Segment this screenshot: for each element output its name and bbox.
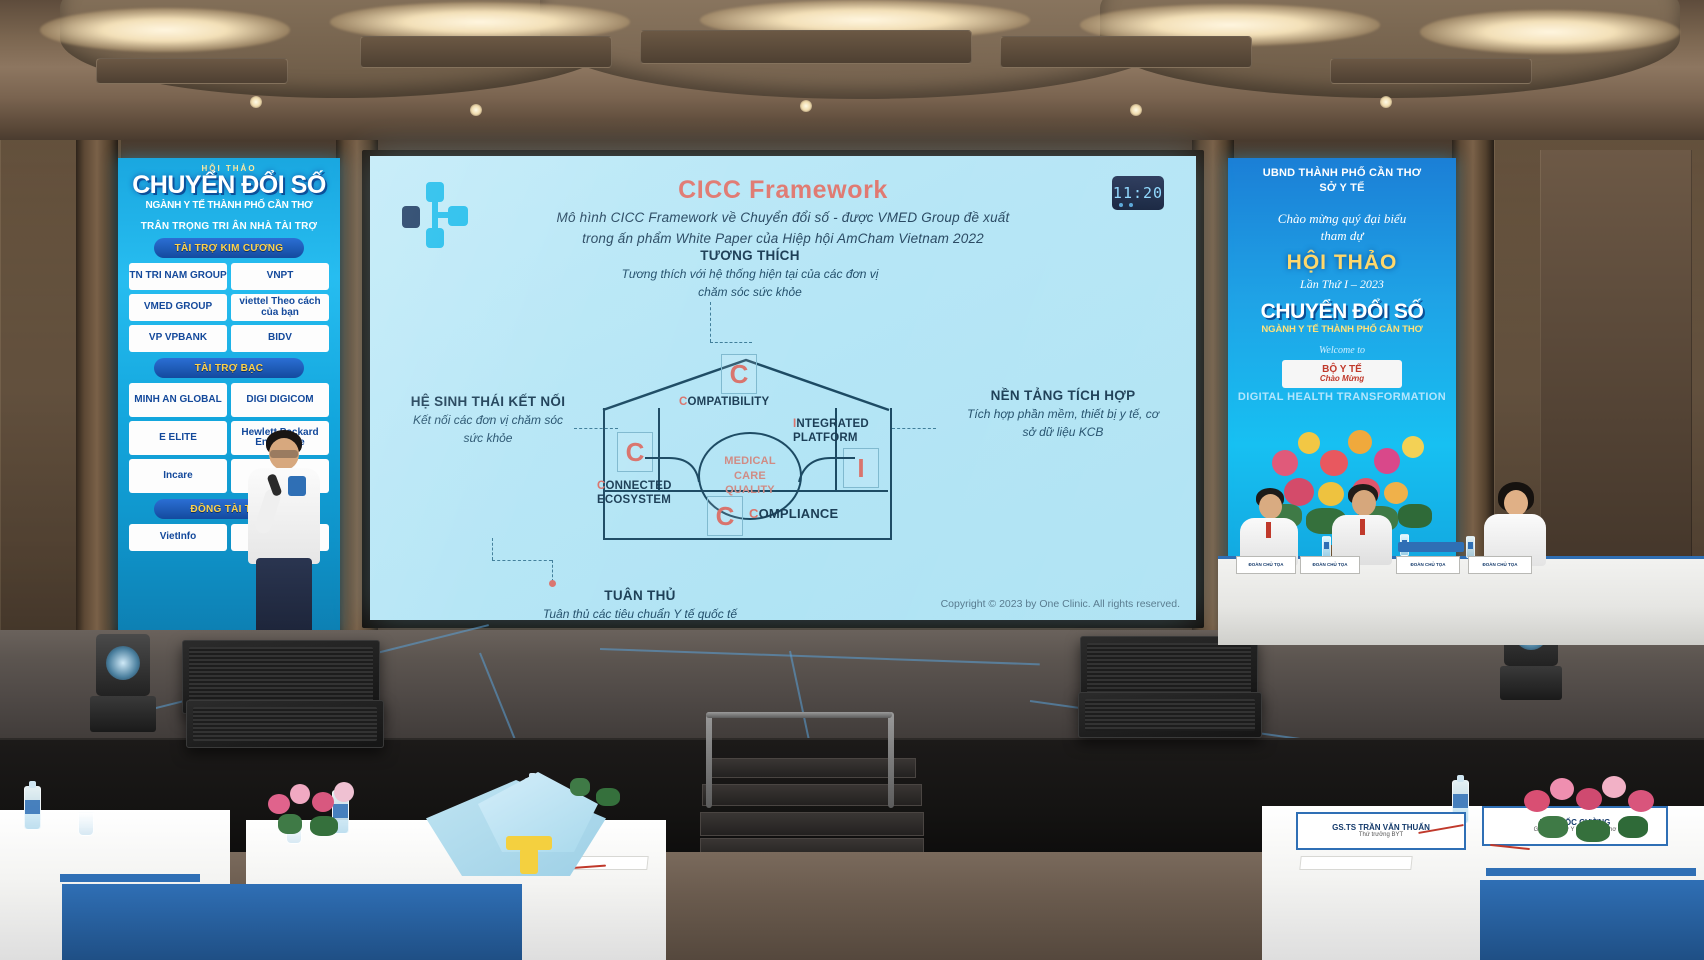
water-bottle-panel-1 — [1322, 536, 1331, 558]
front-table-left-band — [60, 874, 200, 882]
ceiling-downlight-3 — [800, 100, 812, 112]
banner-left-subtitle: NGÀNH Y TẾ THÀNH PHỐ CẦN THƠ — [126, 200, 332, 211]
cicc-house-diagram: C COMPATIBILITY C CONNECTED ECOSYSTEM I — [603, 356, 888, 538]
clock-indicator-leds — [1119, 203, 1133, 207]
leader-bottom-vertical-1 — [492, 538, 493, 560]
slide-subtitle: Mô hình CICC Framework về Chuyển đổi số … — [490, 208, 1076, 250]
letter-c-compliance: C — [716, 503, 735, 529]
sponsor-logo: VMED GROUP — [129, 294, 227, 321]
sponsor-logos-diamond: TN TRI NAM GROUP VNPT VMED GROUP viettel… — [126, 263, 332, 352]
tier-label-diamond: TÀI TRỢ KIM CƯƠNG — [154, 238, 304, 258]
leader-right — [892, 428, 936, 429]
sponsor-logo: Incare — [129, 459, 227, 493]
pillar-rest-compliance: OMPLIANCE — [759, 506, 839, 521]
conference-hall-photo: HỘI THẢO CHUYỂN ĐỔI SỐ NGÀNH Y TẾ THÀNH … — [0, 0, 1704, 960]
banner-left-title: CHUYỂN ĐỔI SỐ — [126, 173, 332, 198]
panel-nameplate-2: ĐOÀN CHỦ TỌA — [1300, 556, 1360, 574]
front-nameplate-1-name: GS.TS TRẦN VĂN THUẤN — [1332, 824, 1430, 832]
ceiling-cove-light-1 — [40, 8, 290, 52]
front-nameplate-1: GS.TS TRẦN VĂN THUẤN Thứ trưởng BYT — [1296, 812, 1466, 850]
panel-nameplate-3-name: ĐOÀN CHỦ TỌA — [1411, 563, 1446, 568]
callout-left-desc-line1: Kết nối các đơn vị chăm sóc — [388, 411, 588, 429]
core-connector-right — [785, 452, 861, 496]
banner-right-title: CHUYỂN ĐỔI SỐ — [1234, 300, 1450, 324]
banner-right-welcome-en: Welcome to — [1234, 345, 1450, 356]
panel-nameplate-3: ĐOÀN CHỦ TỌA — [1396, 556, 1460, 574]
speaker-presenter — [240, 430, 330, 645]
tier-label-silver: TÀI TRỢ BẠC — [154, 358, 304, 378]
moving-head-light-left — [84, 626, 162, 736]
ceiling-downlight-5 — [1380, 96, 1392, 108]
callout-left-desc-line2: sức khỏe — [388, 429, 588, 447]
wall-panel-right-inner — [1540, 150, 1692, 620]
callout-right-desc-line2: sở dữ liệu KCB — [938, 423, 1188, 441]
panel-member-1 — [1238, 488, 1300, 566]
speaker-glasses — [270, 450, 298, 458]
callout-left-ecosystem: HỆ SINH THÁI KẾT NỐI Kết nối các đơn vị … — [388, 394, 588, 447]
wood-column-1 — [76, 140, 118, 700]
water-bottle-front-1 — [24, 786, 41, 830]
pillar-rest-integrated: NTEGRATED — [796, 418, 869, 430]
banner-right-welcome-line1: Chào mừng quý đại biểu — [1234, 210, 1450, 228]
leader-top-vertical — [710, 302, 711, 342]
letter-c-connected: C — [626, 439, 645, 465]
ceiling-downlight-1 — [250, 96, 262, 108]
core-text: MEDICAL CARE QUALITY — [724, 454, 776, 499]
ceiling-panel-1 — [360, 36, 612, 68]
panel-nameplate-2-name: ĐOÀN CHỦ TỌA — [1313, 563, 1348, 568]
panel-nameplate-4-name: ĐOÀN CHỦ TỌA — [1483, 563, 1518, 568]
sponsor-logo: BIDV — [231, 325, 329, 352]
document-front-2 — [1299, 856, 1412, 870]
front-table-blue-band-left — [62, 884, 522, 960]
bouquet-center-left — [264, 778, 384, 850]
panel-member-2 — [1330, 484, 1394, 566]
front-table-blue-band-right — [1480, 880, 1704, 960]
callout-bottom-heading: TUÂN THỦ — [400, 588, 880, 603]
banner-left-thanks: TRÂN TRỌNG TRI ÂN NHÀ TÀI TRỢ — [126, 221, 332, 232]
pillar-label-integrated: INTEGRATED PLATFORM — [793, 418, 869, 446]
core-line3: QUALITY — [725, 484, 775, 496]
ceiling-downlight-4 — [1130, 104, 1142, 116]
banner-right-edition: Lần Thứ I – 2023 — [1234, 277, 1450, 292]
slide-subtitle-line2: trong ấn phẩm White Paper của Hiệp hội A… — [490, 229, 1076, 250]
callout-top-compatibility: TƯƠNG THÍCH Tương thích với hệ thống hiệ… — [570, 248, 930, 301]
banner-right-welcome-line2: tham dự — [1234, 227, 1450, 245]
ceiling-panel-5 — [1330, 58, 1532, 84]
banner-right-org-line2: SỞ Y TẾ — [1234, 181, 1450, 196]
ministry-of-health-logo: BỘ Y TẾ Chào Mừng — [1282, 360, 1402, 388]
stage-monitor-left-2 — [186, 700, 384, 748]
core-line2: CARE — [734, 470, 766, 482]
ceiling-panel-3 — [1000, 36, 1252, 68]
bouquet-wrapped-center — [420, 770, 650, 880]
pillar-label-integrated-line2: PLATFORM — [793, 432, 869, 446]
callout-right-heading: NỀN TẢNG TÍCH HỢP — [938, 388, 1188, 403]
banner-right-subtitle: NGÀNH Y TẾ THÀNH PHỐ CẦN THƠ — [1234, 324, 1450, 335]
water-bottle-panel-3 — [1466, 536, 1475, 558]
panel-nameplate-4: ĐOÀN CHỦ TỌA — [1468, 556, 1532, 574]
sponsor-logo: TN TRI NAM GROUP — [129, 263, 227, 290]
pillar-letter-compatibility: C — [721, 354, 757, 394]
sponsor-logo: viettel Theo cách của bạn — [231, 294, 329, 321]
presentation-screen: CICC Framework Mô hình CICC Framework về… — [370, 156, 1196, 620]
leader-left — [574, 428, 618, 429]
sponsor-logo: VNPT — [231, 263, 329, 290]
clock-time: 11:20 — [1113, 184, 1163, 202]
pillar-accent-compliance: C — [749, 506, 759, 521]
banner-right-org-line1: UBND THÀNH PHỐ CẦN THƠ — [1234, 166, 1450, 181]
sponsor-logo: MINH AN GLOBAL — [129, 383, 227, 417]
ceiling-cove-light-5 — [1420, 10, 1680, 54]
pillar-accent-connected: C — [597, 480, 606, 492]
callout-bottom-compliance: TUÂN THỦ Tuân thủ các tiêu chuẩn Y tế qu… — [400, 558, 880, 620]
slide-title: CICC Framework — [370, 176, 1196, 205]
letter-c-compatibility: C — [730, 361, 749, 387]
glass-front-1 — [78, 812, 94, 836]
ceiling-panel-4 — [96, 58, 288, 84]
leader-top-horizontal — [710, 342, 752, 343]
front-nameplate-1-role: Thứ trưởng BYT — [1359, 832, 1403, 838]
pillar-label-compliance: COMPLIANCE — [749, 506, 838, 522]
sponsor-logo: VietInfo — [129, 524, 227, 551]
ministry-sub-label: Chào Mừng — [1320, 375, 1364, 383]
stage-stairs — [700, 712, 922, 858]
callout-bottom-desc-line1: Tuân thủ các tiêu chuẩn Y tế quốc tế — [400, 605, 880, 620]
callout-left-heading: HỆ SINH THÁI KẾT NỐI — [388, 394, 588, 409]
banner-right-theme-en: DIGITAL HEALTH TRANSFORMATION — [1234, 391, 1450, 403]
sponsor-logo: DIGI DIGICOM — [231, 383, 329, 417]
ceiling-panel-2 — [640, 30, 972, 64]
pillar-rest-compatibility: OMPATIBILITY — [688, 396, 770, 408]
core-line1: MEDICAL — [724, 455, 776, 467]
sponsor-logo: VP VPBANK — [129, 325, 227, 352]
bouquet-right — [1520, 770, 1700, 870]
banner-right-event-kicker: HỘI THẢO — [1234, 251, 1450, 275]
speaker-shirt-logo — [288, 476, 306, 496]
panel-nameplate-1: ĐOÀN CHỦ TỌA — [1236, 556, 1296, 574]
callout-top-desc-line2: chăm sóc sức khỏe — [570, 283, 930, 301]
slide-cicc-framework: CICC Framework Mô hình CICC Framework về… — [370, 156, 1196, 620]
callout-right-desc-line1: Tích hợp phần mềm, thiết bị y tế, cơ — [938, 405, 1188, 423]
sponsor-logo: E ELITE — [129, 421, 227, 455]
pillar-accent-compatibility: C — [679, 396, 688, 408]
slide-subtitle-line1: Mô hình CICC Framework về Chuyển đổi số … — [490, 208, 1076, 229]
stage-monitor-right-2 — [1078, 692, 1262, 738]
clock-widget: 11:20 — [1112, 176, 1164, 210]
pillar-label-compatibility: COMPATIBILITY — [679, 396, 769, 410]
panel-banner-strip — [1398, 542, 1464, 552]
callout-top-desc-line1: Tương thích với hệ thống hiện tại của cá… — [570, 265, 930, 283]
slide-copyright: Copyright © 2023 by One Clinic. All righ… — [941, 598, 1180, 610]
panel-member-3 — [1482, 482, 1548, 566]
ceiling-downlight-2 — [470, 104, 482, 116]
core-connector-left — [643, 452, 713, 496]
callout-top-heading: TƯƠNG THÍCH — [570, 248, 930, 263]
panel-nameplate-1-name: ĐOÀN CHỦ TỌA — [1249, 563, 1284, 568]
callout-right-platform: NỀN TẢNG TÍCH HỢP Tích hợp phần mềm, thi… — [938, 388, 1188, 441]
pillar-letter-compliance: C — [707, 496, 743, 536]
